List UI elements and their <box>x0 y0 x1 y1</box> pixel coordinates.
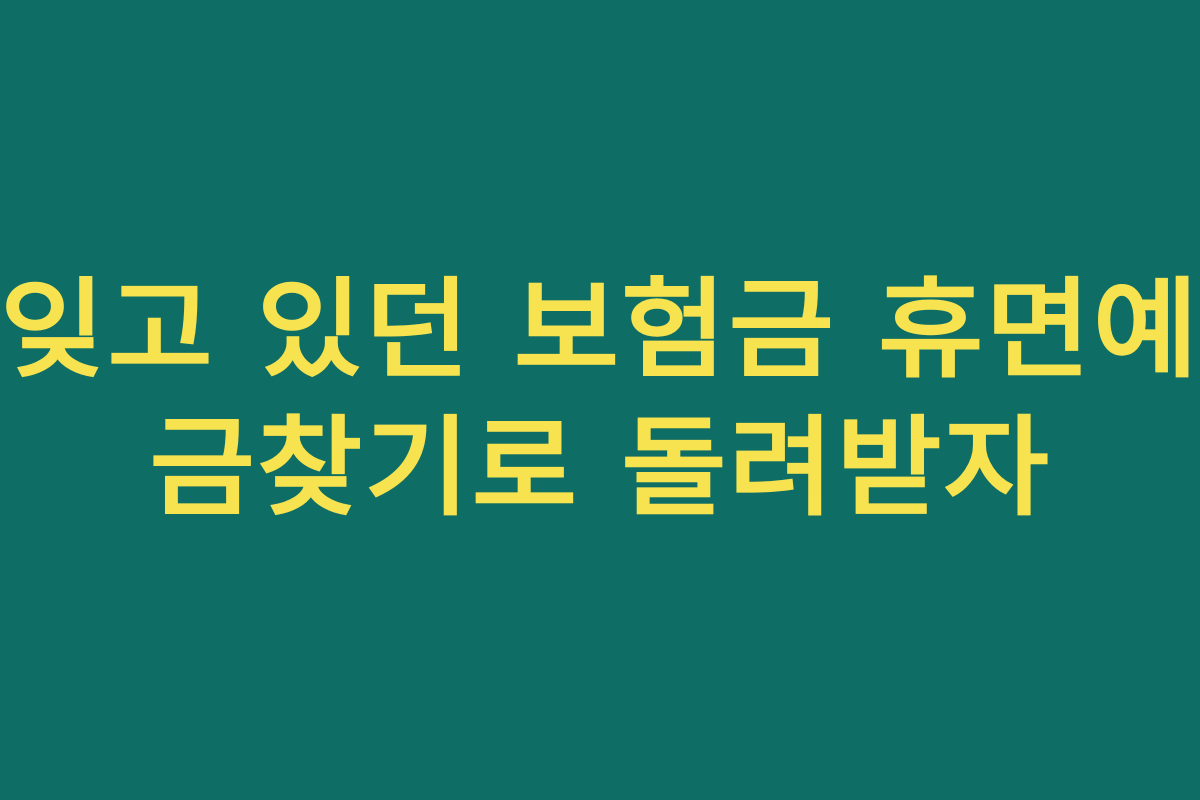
headline-line-1: 잊고 있던 보험금 휴면예 <box>0 277 1200 385</box>
headline-line-2: 금찾기로 돌려받자 <box>149 415 1051 523</box>
headline-block: 잊고 있던 보험금 휴면예 금찾기로 돌려받자 <box>0 0 1200 800</box>
banner-canvas: 잊고 있던 보험금 휴면예 금찾기로 돌려받자 <box>0 0 1200 800</box>
